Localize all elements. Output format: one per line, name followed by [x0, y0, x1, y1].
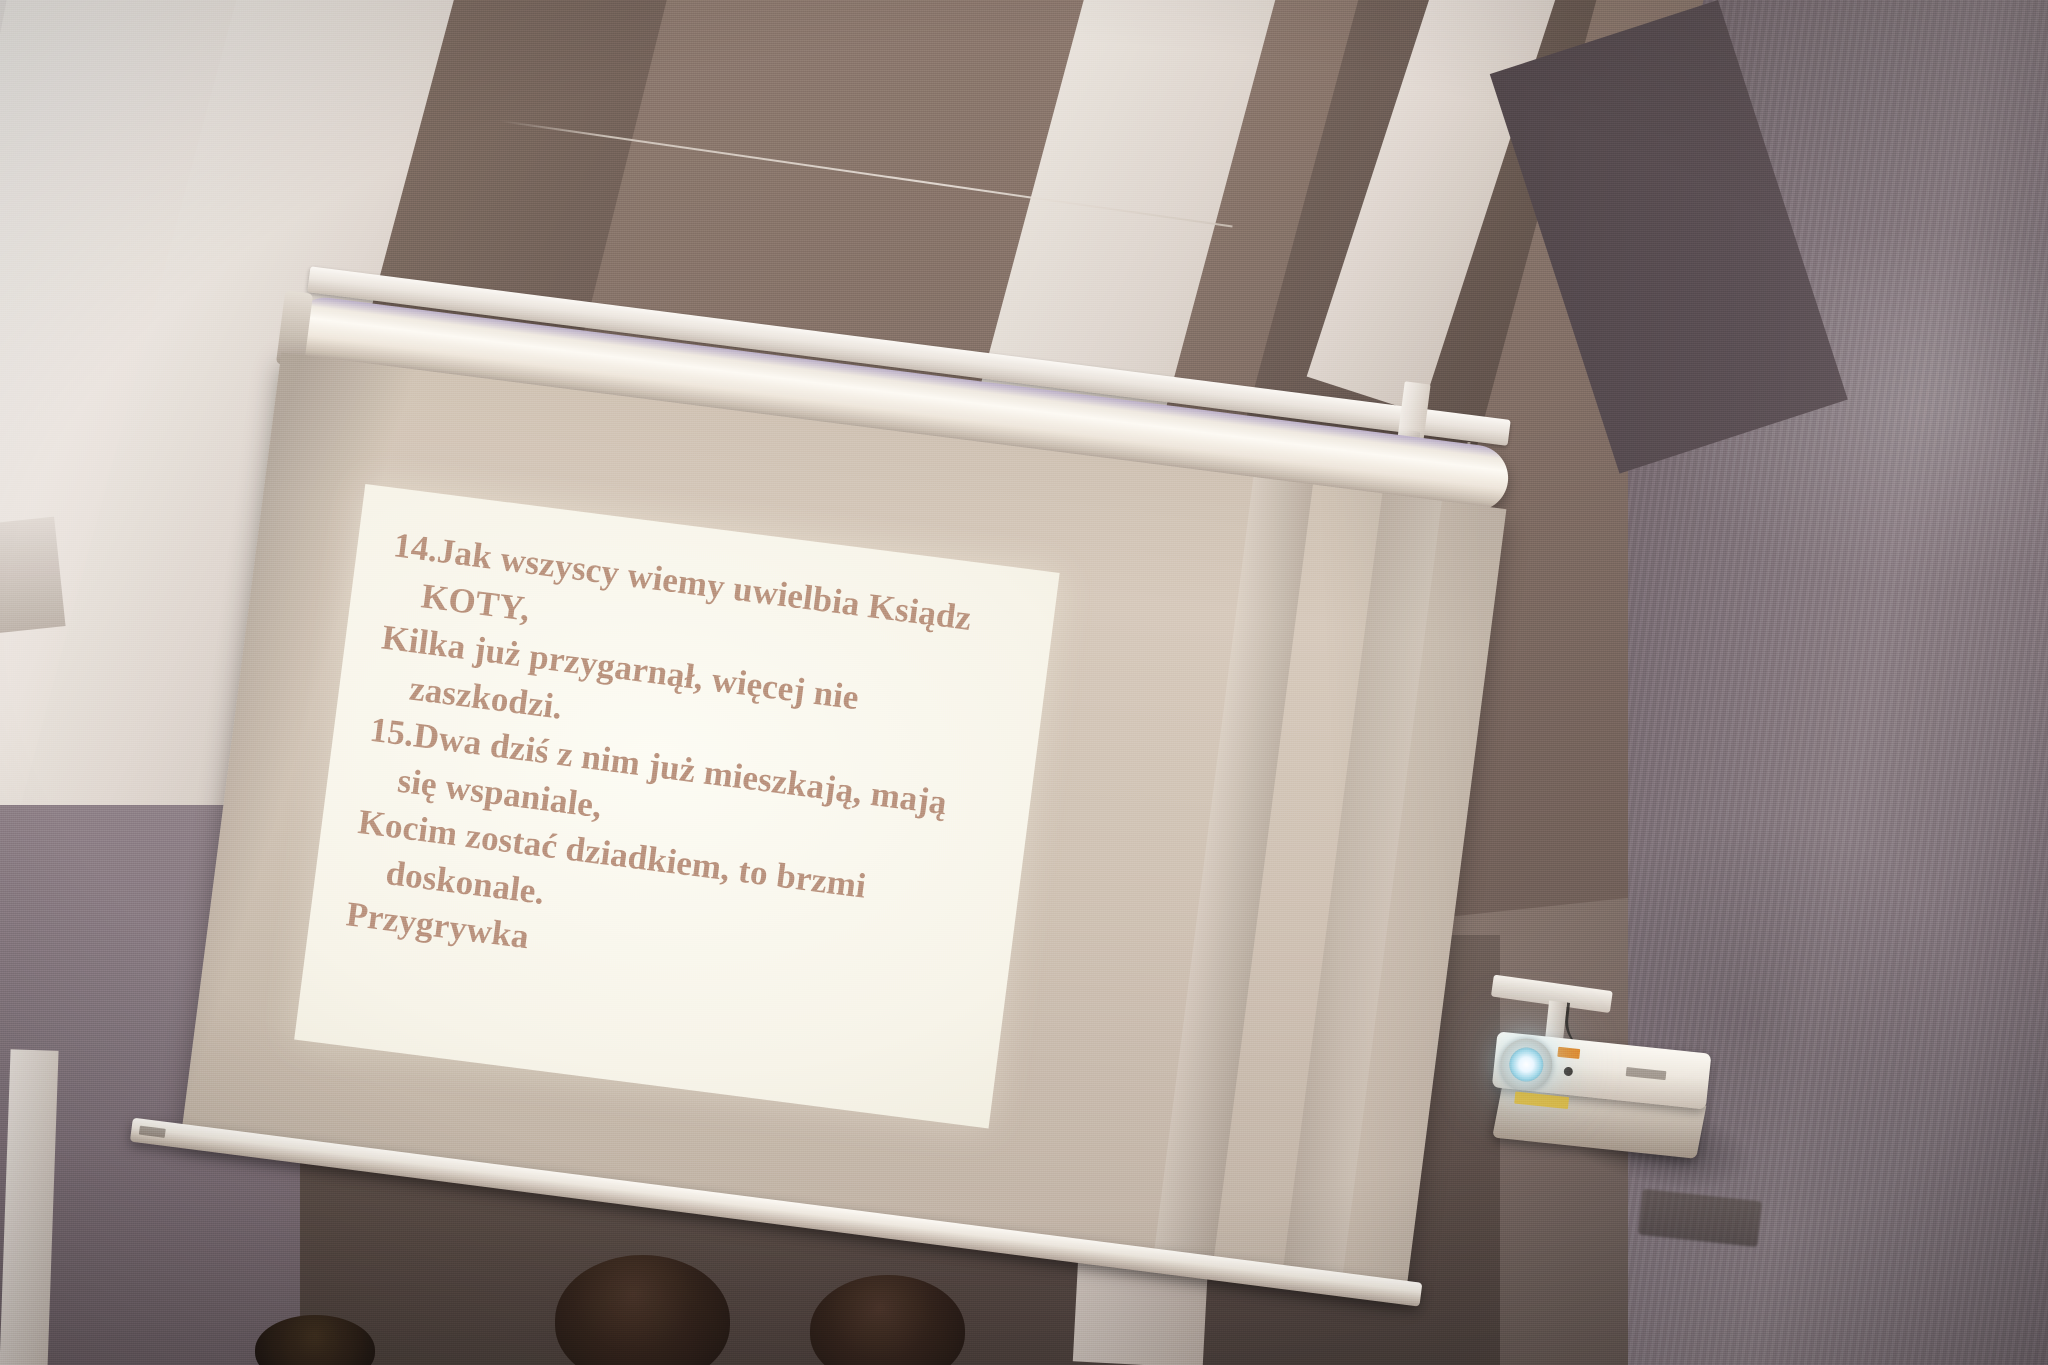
- projector-indicator-icon: [1557, 1047, 1580, 1059]
- projected-slide: 14.Jak wszyscy wiemy uwielbia Ksiądz KOT…: [294, 484, 1059, 1128]
- projection-screen-assembly[interactable]: 14.Jak wszyscy wiemy uwielbia Ksiądz KOT…: [178, 270, 1609, 1365]
- screen-brand-tag: [139, 1126, 166, 1138]
- fabric-fold: [1282, 493, 1442, 1284]
- photo-scene: 14.Jak wszyscy wiemy uwielbia Ksiądz KOT…: [0, 0, 2048, 1365]
- wall-vent: [0, 517, 66, 634]
- fabric-fold: [1153, 477, 1313, 1268]
- ceiling-projector[interactable]: [1483, 1023, 1727, 1196]
